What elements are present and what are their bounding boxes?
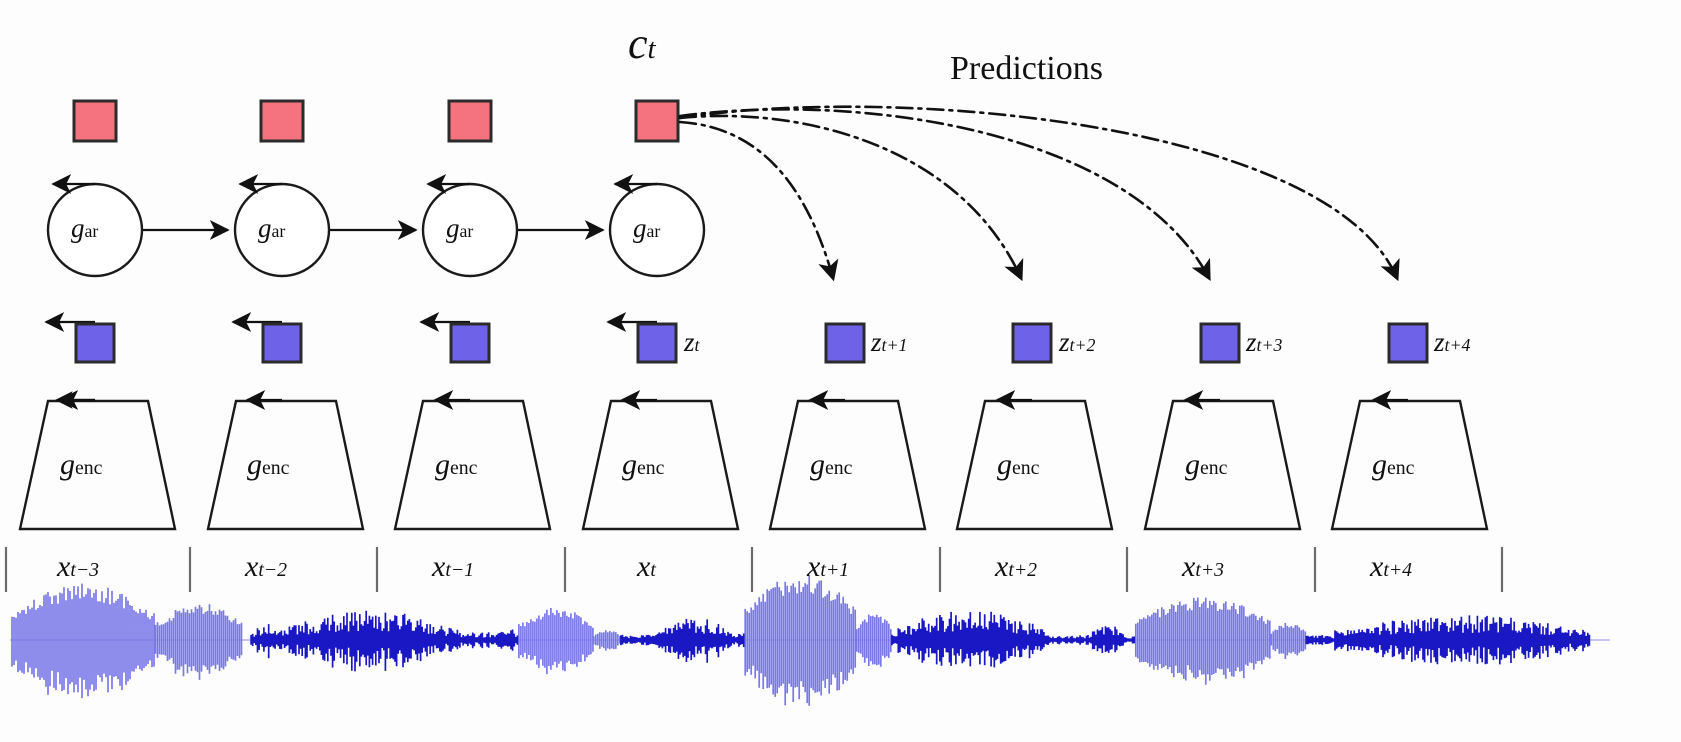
genc-main: g	[622, 448, 637, 481]
genc-sub: enc	[450, 457, 477, 479]
context-box[interactable]	[74, 101, 116, 141]
latent-boxes	[76, 324, 1427, 362]
x-main: x	[245, 550, 258, 583]
gar-sub: ar	[85, 221, 99, 241]
gar-node-label: gar	[71, 213, 98, 244]
input-label-xt2: xt+2	[995, 550, 1037, 584]
genc-main: g	[997, 448, 1012, 481]
genc-main: g	[1185, 448, 1200, 481]
gar-main: g	[446, 213, 460, 243]
latent-box-zt4[interactable]	[1389, 324, 1427, 362]
latent-box-zt2[interactable]	[1013, 324, 1051, 362]
z-sub: t+4	[1445, 335, 1471, 355]
input-label-xt: xt	[637, 550, 656, 584]
z-sub: t+3	[1257, 335, 1283, 355]
latent-box[interactable]	[451, 324, 489, 362]
gar-node-label: gar	[258, 213, 285, 244]
ct-sub: t	[648, 33, 656, 65]
x-main: x	[807, 550, 820, 583]
encoder-label: genc	[247, 448, 289, 482]
genc-main: g	[60, 448, 75, 481]
genc-sub: enc	[637, 457, 664, 479]
latent-label-zt2: zt+2	[1059, 327, 1095, 358]
genc-sub: enc	[1387, 457, 1414, 479]
gar-node-label: gar	[446, 213, 473, 244]
context-box-ct[interactable]	[636, 101, 678, 141]
z-main: z	[684, 327, 695, 357]
genc-main: g	[435, 448, 450, 481]
genc-main: g	[810, 448, 825, 481]
x-main: x	[1370, 550, 1383, 583]
cpc-architecture-figure: ct Predictions gar gar gar gar genc genc…	[0, 0, 1681, 742]
encoder-label: genc	[60, 448, 102, 482]
latent-box-zt[interactable]	[638, 324, 676, 362]
prediction-arrows	[680, 107, 1397, 278]
x-sub: t+3	[1195, 559, 1224, 581]
latent-label-zt1: zt+1	[871, 327, 907, 358]
waveform-dark-strokes	[251, 611, 1589, 672]
encoder-label: genc	[1372, 448, 1414, 482]
ct-main: c	[628, 19, 648, 68]
genc-sub: enc	[825, 457, 852, 479]
z-sub: t+2	[1070, 335, 1096, 355]
input-label-xt4: xt+4	[1370, 550, 1412, 584]
x-main: x	[995, 550, 1008, 583]
latent-label-zt4: zt+4	[1434, 327, 1470, 358]
z-main: z	[1246, 327, 1257, 357]
input-label-xt-1: xt−1	[432, 550, 474, 584]
x-sub: t+4	[1383, 559, 1412, 581]
encoder-label: genc	[810, 448, 852, 482]
x-main: x	[432, 550, 445, 583]
prediction-arrow-t4	[680, 107, 1397, 278]
encoder-trapezoids	[20, 401, 1487, 529]
x-main: x	[637, 550, 650, 583]
audio-waveform	[10, 576, 1610, 706]
x-main: x	[57, 550, 70, 583]
genc-sub: enc	[75, 457, 102, 479]
x-sub: t+2	[1008, 559, 1037, 581]
diagram-vector-layer	[0, 0, 1681, 742]
x-main: x	[1182, 550, 1195, 583]
context-box[interactable]	[449, 101, 491, 141]
input-label-xt3: xt+3	[1182, 550, 1224, 584]
prediction-arrow-t2	[680, 116, 1021, 278]
genc-main: g	[1372, 448, 1387, 481]
x-sub: t−1	[445, 559, 474, 581]
z-main: z	[871, 327, 882, 357]
genc-sub: enc	[262, 457, 289, 479]
x-sub: t−3	[70, 559, 99, 581]
z-sub: t+1	[882, 335, 908, 355]
gar-sub: ar	[272, 221, 286, 241]
input-label-xt1: xt+1	[807, 550, 849, 584]
latent-label-zt3: zt+3	[1246, 327, 1282, 358]
gar-sub: ar	[647, 221, 661, 241]
predictions-label: Predictions	[950, 50, 1103, 88]
encoder-label: genc	[622, 448, 664, 482]
prediction-arrow-t1	[680, 122, 833, 278]
context-title-label: ct	[628, 18, 656, 69]
encoder-label: genc	[997, 448, 1039, 482]
genc-sub: enc	[1012, 457, 1039, 479]
encoder-label: genc	[435, 448, 477, 482]
x-sub: t−2	[258, 559, 287, 581]
genc-sub: enc	[1200, 457, 1227, 479]
context-box[interactable]	[261, 101, 303, 141]
latent-box-zt1[interactable]	[826, 324, 864, 362]
x-sub: t	[650, 559, 656, 581]
z-sub: t	[695, 335, 700, 355]
waveform-noise-path	[251, 611, 1589, 672]
genc-main: g	[247, 448, 262, 481]
input-label-xt-3: xt−3	[57, 550, 99, 584]
gar-main: g	[258, 213, 272, 243]
latent-box[interactable]	[263, 324, 301, 362]
input-label-xt-2: xt−2	[245, 550, 287, 584]
gar-node-label: gar	[633, 213, 660, 244]
context-boxes	[74, 101, 678, 141]
latent-box[interactable]	[76, 324, 114, 362]
latent-box-zt3[interactable]	[1201, 324, 1239, 362]
z-main: z	[1059, 327, 1070, 357]
x-sub: t+1	[820, 559, 849, 581]
encoder-label: genc	[1185, 448, 1227, 482]
z-main: z	[1434, 327, 1445, 357]
latent-label-zt: zt	[684, 327, 699, 358]
prediction-arrow-t3	[680, 109, 1209, 278]
gar-main: g	[633, 213, 647, 243]
column-separators	[6, 547, 1502, 592]
gar-sub: ar	[460, 221, 474, 241]
gar-main: g	[71, 213, 85, 243]
